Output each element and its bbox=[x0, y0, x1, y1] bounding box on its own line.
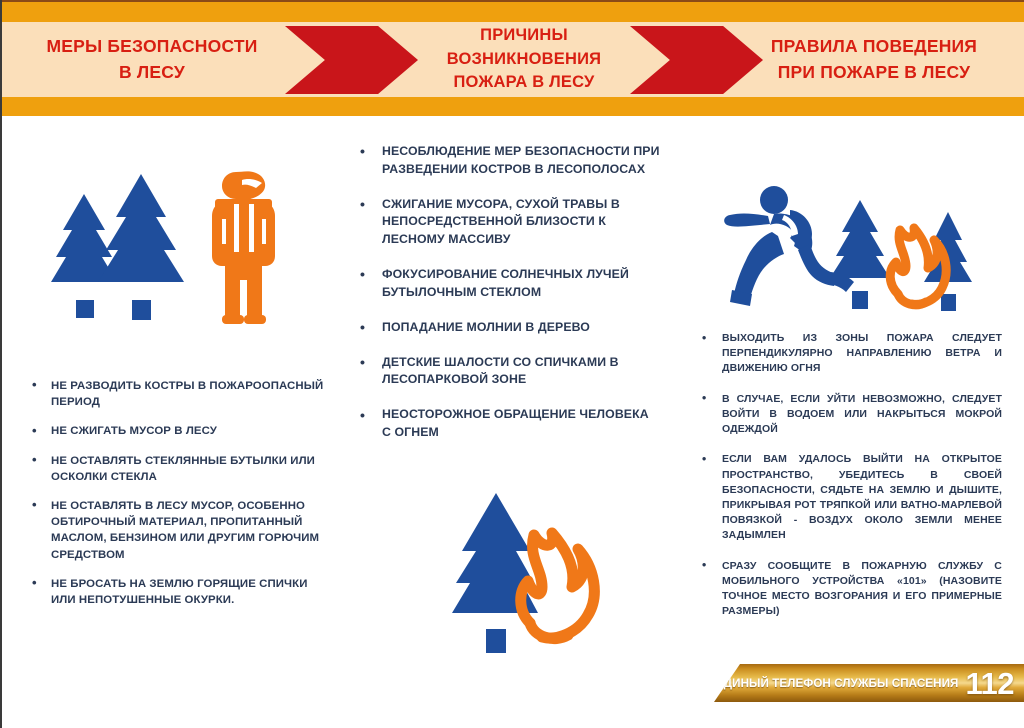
hiker-with-backpack-icon bbox=[212, 171, 275, 324]
middle-bullet-list: НЕСОБЛЮДЕНИЕ МЕР БЕЗОПАСНОСТИ ПРИ РАЗВЕД… bbox=[360, 143, 660, 442]
bullet-item: ПОПАДАНИЕ МОЛНИИ В ДЕРЕВО bbox=[360, 319, 660, 337]
bullet-item: НЕСОБЛЮДЕНИЕ МЕР БЕЗОПАСНОСТИ ПРИ РАЗВЕД… bbox=[360, 143, 660, 179]
rescue-service-banner: ЕДИНЫЙ ТЕЛЕФОН СЛУЖБЫ СПАСЕНИЯ 112 bbox=[714, 664, 1024, 702]
pine-tree-icon bbox=[98, 174, 184, 320]
illustration-burning-pine-tree bbox=[438, 463, 618, 653]
header-section-fire-causes: ПРИЧИНЫ ВОЗНИКНОВЕНИЯ ПОЖАРА В ЛЕСУ bbox=[400, 22, 648, 97]
bullet-item: ДЕТСКИЕ ШАЛОСТИ СО СПИЧКАМИ В ЛЕСОПАРКОВ… bbox=[360, 354, 660, 390]
bullet-item: НЕ СЖИГАТЬ МУСОР В ЛЕСУ bbox=[32, 423, 332, 439]
bullet-item: НЕ ОСТАВЛЯТЬ В ЛЕСУ МУСОР, ОСОБЕННО ОБТИ… bbox=[32, 498, 332, 563]
running-person-with-backpack-icon bbox=[724, 186, 854, 306]
bullet-item: НЕОСТОРОЖНОЕ ОБРАЩЕНИЕ ЧЕЛОВЕКА С ОГНЕМ bbox=[360, 406, 660, 442]
right-bullet-list: ВЫХОДИТЬ ИЗ ЗОНЫ ПОЖАРА СЛЕДУЕТ ПЕРПЕНДИ… bbox=[702, 331, 1002, 620]
bullet-item: ФОКУСИРОВАНИЕ СОЛНЕЧНЫХ ЛУЧЕЙ БУТЫЛОЧНЫМ… bbox=[360, 266, 660, 302]
header-section-safety-measures: МЕРЫ БЕЗОПАСНОСТИ В ЛЕСУ bbox=[12, 22, 292, 97]
header-bottom-stripe bbox=[2, 97, 1024, 116]
pine-tree-icon bbox=[452, 493, 538, 653]
bullet-item: ЕСЛИ ВАМ УДАЛОСЬ ВЫЙТИ НА ОТКРЫТОЕ ПРОСТ… bbox=[702, 452, 1002, 543]
header-top-stripe bbox=[2, 0, 1024, 24]
bullet-item: НЕ РАЗВОДИТЬ КОСТРЫ В ПОЖАРООПАСНЫЙ ПЕРИ… bbox=[32, 378, 332, 410]
infographic-poster: МЕРЫ БЕЗОПАСНОСТИ В ЛЕСУ ПРИЧИНЫ ВОЗНИКН… bbox=[0, 0, 1024, 728]
left-bullet-list: НЕ РАЗВОДИТЬ КОСТРЫ В ПОЖАРООПАСНЫЙ ПЕРИ… bbox=[32, 378, 332, 608]
flame-icon bbox=[521, 533, 595, 639]
bullet-item: НЕ ОСТАВЛЯТЬ СТЕКЛЯННЫЕ БУТЫЛКИ ИЛИ ОСКО… bbox=[32, 453, 332, 485]
middle-column-fire-causes: НЕСОБЛЮДЕНИЕ МЕР БЕЗОПАСНОСТИ ПРИ РАЗВЕД… bbox=[360, 143, 660, 459]
bullet-item: В СЛУЧАЕ, ЕСЛИ УЙТИ НЕВОЗМОЖНО, СЛЕДУЕТ … bbox=[702, 392, 1002, 438]
header-title-bar: МЕРЫ БЕЗОПАСНОСТИ В ЛЕСУ ПРИЧИНЫ ВОЗНИКН… bbox=[2, 0, 1024, 116]
rescue-service-number: 112 bbox=[965, 668, 1014, 699]
illustration-person-running-from-forest-fire bbox=[702, 178, 1012, 323]
header-section-fire-conduct: ПРАВИЛА ПОВЕДЕНИЯ ПРИ ПОЖАРЕ В ЛЕСУ bbox=[730, 22, 1018, 97]
pine-tree-icon bbox=[51, 194, 117, 318]
bullet-item: ВЫХОДИТЬ ИЗ ЗОНЫ ПОЖАРА СЛЕДУЕТ ПЕРПЕНДИ… bbox=[702, 331, 1002, 377]
left-column-safety-measures: НЕ РАЗВОДИТЬ КОСТРЫ В ПОЖАРООПАСНЫЙ ПЕРИ… bbox=[32, 378, 332, 621]
rescue-service-label: ЕДИНЫЙ ТЕЛЕФОН СЛУЖБЫ СПАСЕНИЯ bbox=[716, 677, 959, 690]
bullet-item: СЖИГАНИЕ МУСОРА, СУХОЙ ТРАВЫ В НЕПОСРЕДС… bbox=[360, 196, 660, 249]
pine-tree-icon bbox=[830, 200, 890, 309]
illustration-hiker-with-pine-trees bbox=[36, 152, 336, 332]
bullet-item: НЕ БРОСАТЬ НА ЗЕМЛЮ ГОРЯЩИЕ СПИЧКИ ИЛИ Н… bbox=[32, 576, 332, 608]
bullet-item: СРАЗУ СООБЩИТЕ В ПОЖАРНУЮ СЛУЖБУ С МОБИЛ… bbox=[702, 559, 1002, 620]
right-column-fire-conduct: ВЫХОДИТЬ ИЗ ЗОНЫ ПОЖАРА СЛЕДУЕТ ПЕРПЕНДИ… bbox=[702, 331, 1002, 620]
